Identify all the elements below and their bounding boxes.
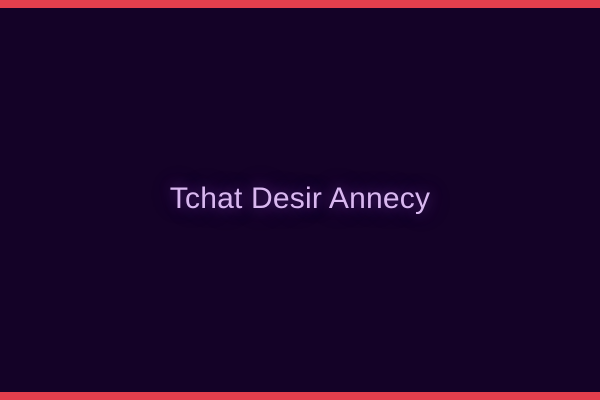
placeholder-content-area: Tchat Desir Annecy xyxy=(0,8,600,392)
placeholder-title: Tchat Desir Annecy xyxy=(170,182,430,217)
placeholder-card: Tchat Desir Annecy xyxy=(0,0,600,400)
top-accent-bar xyxy=(0,0,600,8)
bottom-accent-bar xyxy=(0,392,600,400)
